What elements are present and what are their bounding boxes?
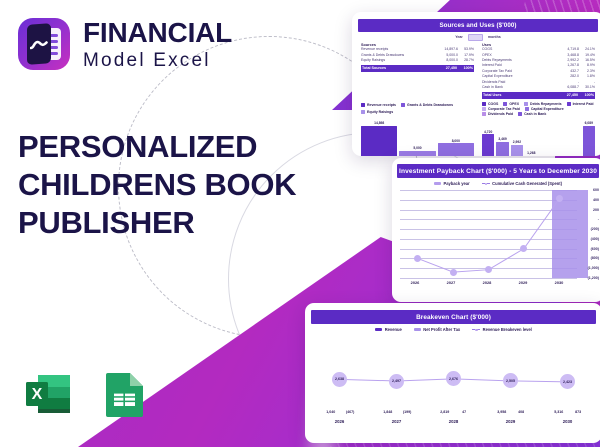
breakeven-plot: 1,040 (467) 1,848 (199) 2,819 47 3,958 [311, 337, 596, 415]
payback-y-tick: 600 [593, 188, 599, 192]
uses-bar-label: 2,992 [513, 140, 521, 144]
uses-total-pct: 100% [578, 92, 594, 99]
breakeven-level-bubble: 2,497 [389, 374, 404, 389]
sources-chart-legend: Revenue receipts Grants & Debts Drawdown… [361, 102, 474, 116]
sources-bar-fill [438, 143, 474, 156]
sources-bar-fill [399, 151, 435, 156]
payback-x-tick: 2028 [483, 280, 492, 285]
payback-y-tick: 200 [593, 208, 599, 212]
brand-lockup: FINANCIAL Model Excel [18, 18, 232, 70]
uses-bar: 6,089 [583, 118, 595, 156]
poster-canvas: FINANCIAL Model Excel PERSONALIZED CHILD… [0, 0, 600, 447]
period-label-year: Year [455, 35, 463, 39]
payback-x-axis: 20262027202820292030 [397, 280, 599, 285]
uses-legend-item: Dividends Paid [482, 112, 513, 116]
payback-y-tick: (200) [591, 227, 599, 231]
breakeven-x-tick: 2027 [392, 419, 402, 424]
breakeven-x-tick: 2030 [563, 419, 573, 424]
uses-bar-label: 6,089 [585, 121, 593, 125]
payback-title: Investment Payback Chart ($'000) - 5 Yea… [397, 164, 599, 178]
payback-x-tick: 2030 [555, 280, 564, 285]
uses-bar-fill [496, 142, 508, 156]
uses-bar: 2,992 [511, 118, 523, 156]
uses-table-value: 6,088.7 [557, 85, 579, 90]
sources-legend-item: Revenue receipts [361, 102, 396, 109]
financial-model-app-icon [18, 18, 70, 70]
sources-bar-label: 14,898 [374, 121, 384, 125]
breakeven-x-tick: 2026 [335, 419, 345, 424]
payback-x-tick: 2026 [411, 280, 420, 285]
uses-legend-item: Interest Paid [567, 102, 594, 106]
legend-swatch-icon [525, 107, 529, 111]
legend-line-icon [482, 183, 490, 184]
legend-swatch-icon [524, 102, 528, 106]
svg-text:X: X [32, 386, 43, 403]
payback-y-tick: - [598, 217, 599, 221]
sources-bar: 14,898 [361, 118, 397, 156]
sources-bar-chart: 14,898 5,000 8,000 [361, 118, 474, 156]
page-title: PERSONALIZED CHILDRENS BOOK PUBLISHER [18, 128, 318, 241]
panel-investment-payback[interactable]: Investment Payback Chart ($'000) - 5 Yea… [392, 158, 600, 302]
uses-chart-legend: COGS OPEX Debts Repayments Interest Paid… [482, 102, 595, 116]
wave-line-icon [30, 40, 48, 51]
breakeven-legend-item: Revenue Breakeven level [472, 327, 532, 332]
legend-swatch-icon [567, 102, 571, 106]
uses-bar-fill [583, 126, 595, 156]
sources-total-value: 27,450 [435, 65, 457, 72]
payback-legend-item: Payback year [434, 181, 470, 186]
payback-data-point [450, 269, 457, 276]
legend-swatch-icon [518, 112, 522, 116]
sources-uses-bar-charts: 14,898 5,000 8,000 4,720 3,469 2,992 1,2… [358, 116, 598, 156]
uses-bar-fill [482, 134, 494, 156]
payback-legend-item: Cumulative Cash Generated (Spent) [482, 181, 562, 186]
legend-swatch-icon [503, 102, 507, 106]
sources-bar-label: 8,000 [452, 139, 460, 143]
uses-legend-item: Corporate Tax Paid [482, 107, 520, 111]
uses-bar-label: 4,720 [484, 130, 492, 134]
uses-table-name: Cash in Bank [482, 85, 557, 90]
legend-swatch-icon [361, 110, 365, 114]
sources-bar-fill [361, 126, 397, 156]
legend-swatch-icon [414, 328, 421, 331]
file-format-icons: X [20, 366, 150, 422]
legend-swatch-icon [482, 112, 486, 116]
payback-x-tick: 2029 [519, 280, 528, 285]
sources-total-label: Total Sources [362, 65, 435, 72]
uses-bar: 4,720 [482, 118, 494, 156]
sources-table: Sources Revenue receipts 14,897.6 53.9% … [361, 43, 474, 99]
uses-total-row: Total Uses 27,450 100% [482, 92, 595, 99]
uses-table-row: Cash in Bank 6,088.7 30.1% [482, 85, 595, 90]
sources-table-value: 8,000.0 [436, 58, 458, 63]
brand-name-line2: Model Excel [83, 51, 232, 70]
sources-table-row: Equity Raisings 8,000.0 28.7% [361, 58, 474, 63]
uses-bar: 3,469 [496, 118, 508, 156]
sources-bar: 5,000 [399, 118, 435, 156]
breakeven-x-tick: 2029 [506, 419, 516, 424]
breakeven-level-bubble: 2,638 [332, 372, 347, 387]
payback-y-tick: (1,000) [588, 266, 599, 270]
legend-swatch-icon [361, 103, 365, 107]
gridline [400, 278, 577, 279]
sources-table-name: Equity Raisings [361, 58, 436, 63]
brand-name-line1: FINANCIAL [83, 19, 232, 47]
uses-bar: 433 [540, 118, 552, 156]
uses-table-pct: 30.1% [579, 85, 595, 90]
legend-line-icon [472, 329, 480, 330]
uses-legend-item: OPEX [503, 102, 519, 106]
period-label-months: months [488, 35, 501, 39]
legend-swatch-icon [482, 107, 486, 111]
legend-swatch-icon [401, 103, 405, 107]
sources-bar-label: 5,000 [413, 146, 421, 150]
uses-bar-label: 1,268 [527, 151, 535, 155]
breakeven-title: Breakeven Chart ($'000) [311, 310, 596, 324]
payback-legend: Payback yearCumulative Cash Generated (S… [397, 178, 599, 188]
sources-uses-legends: Revenue receipts Grants & Debts Drawdown… [358, 99, 598, 116]
uses-legend-item: Cash in Bank [518, 112, 546, 116]
microsoft-excel-icon: X [20, 366, 76, 422]
sources-uses-tables: Sources Revenue receipts 14,897.6 53.9% … [358, 42, 598, 99]
sources-total-pct: 100% [457, 65, 473, 72]
sources-uses-title: Sources and Uses ($'000) [358, 19, 598, 32]
uses-bar: 282 [554, 118, 566, 156]
payback-plot: 600400200-(200)(400)(600)(800)(1,000)(1,… [400, 190, 599, 278]
sources-total-row: Total Sources 27,450 100% [361, 65, 474, 72]
uses-bar-label: 3,469 [498, 137, 506, 141]
legend-swatch-icon [375, 328, 382, 331]
payback-y-tick: (600) [591, 247, 599, 251]
sources-table-pct: 28.7% [458, 58, 474, 63]
uses-bar: - [568, 118, 580, 156]
breakeven-x-tick: 2028 [449, 419, 459, 424]
panel-sources-and-uses[interactable]: Sources and Uses ($'000) Year months Sou… [352, 12, 600, 156]
uses-legend-item: Capital Expenditure [525, 107, 564, 111]
uses-legend-item: Debts Repayments [524, 102, 562, 106]
breakeven-legend-item: Revenue [375, 327, 402, 332]
uses-total-value: 27,450 [556, 92, 578, 99]
uses-bar-fill [511, 145, 523, 156]
payback-x-tick: 2027 [447, 280, 456, 285]
sources-bar: 8,000 [438, 118, 474, 156]
payback-y-tick: (800) [591, 256, 599, 260]
uses-total-label: Total Uses [483, 92, 556, 99]
payback-y-tick: (1,200) [588, 276, 599, 280]
payback-line-series [400, 190, 577, 278]
breakeven-legend: RevenueNet Profit After TaxRevenue Break… [311, 324, 596, 334]
uses-bar-chart: 4,720 3,469 2,992 1,268 433 282 - 6,089 [482, 118, 595, 156]
google-sheets-icon [100, 366, 150, 422]
legend-swatch-icon [434, 182, 441, 185]
uses-bar: 1,268 [525, 118, 537, 156]
payback-y-tick: 400 [593, 198, 599, 202]
period-input[interactable] [468, 34, 483, 41]
breakeven-x-axis: 20262027202820292030 [311, 419, 596, 424]
legend-swatch-icon [482, 102, 486, 106]
sources-legend-item: Grants & Debts Drawdowns [401, 102, 453, 109]
sources-legend-item: Equity Raisings [361, 109, 393, 116]
uses-legend-item: COGS [482, 102, 498, 106]
payback-y-tick: (400) [591, 237, 599, 241]
uses-table: Uses COGS 4,719.8 24.1% OPEX 3,468.8 19.… [482, 43, 595, 99]
breakeven-legend-item: Net Profit After Tax [414, 327, 460, 332]
sources-uses-period-controls[interactable]: Year months [358, 32, 598, 42]
payback-y-axis: 600400200-(200)(400)(600)(800)(1,000)(1,… [578, 190, 599, 278]
panel-breakeven[interactable]: Breakeven Chart ($'000) RevenueNet Profi… [305, 303, 600, 443]
